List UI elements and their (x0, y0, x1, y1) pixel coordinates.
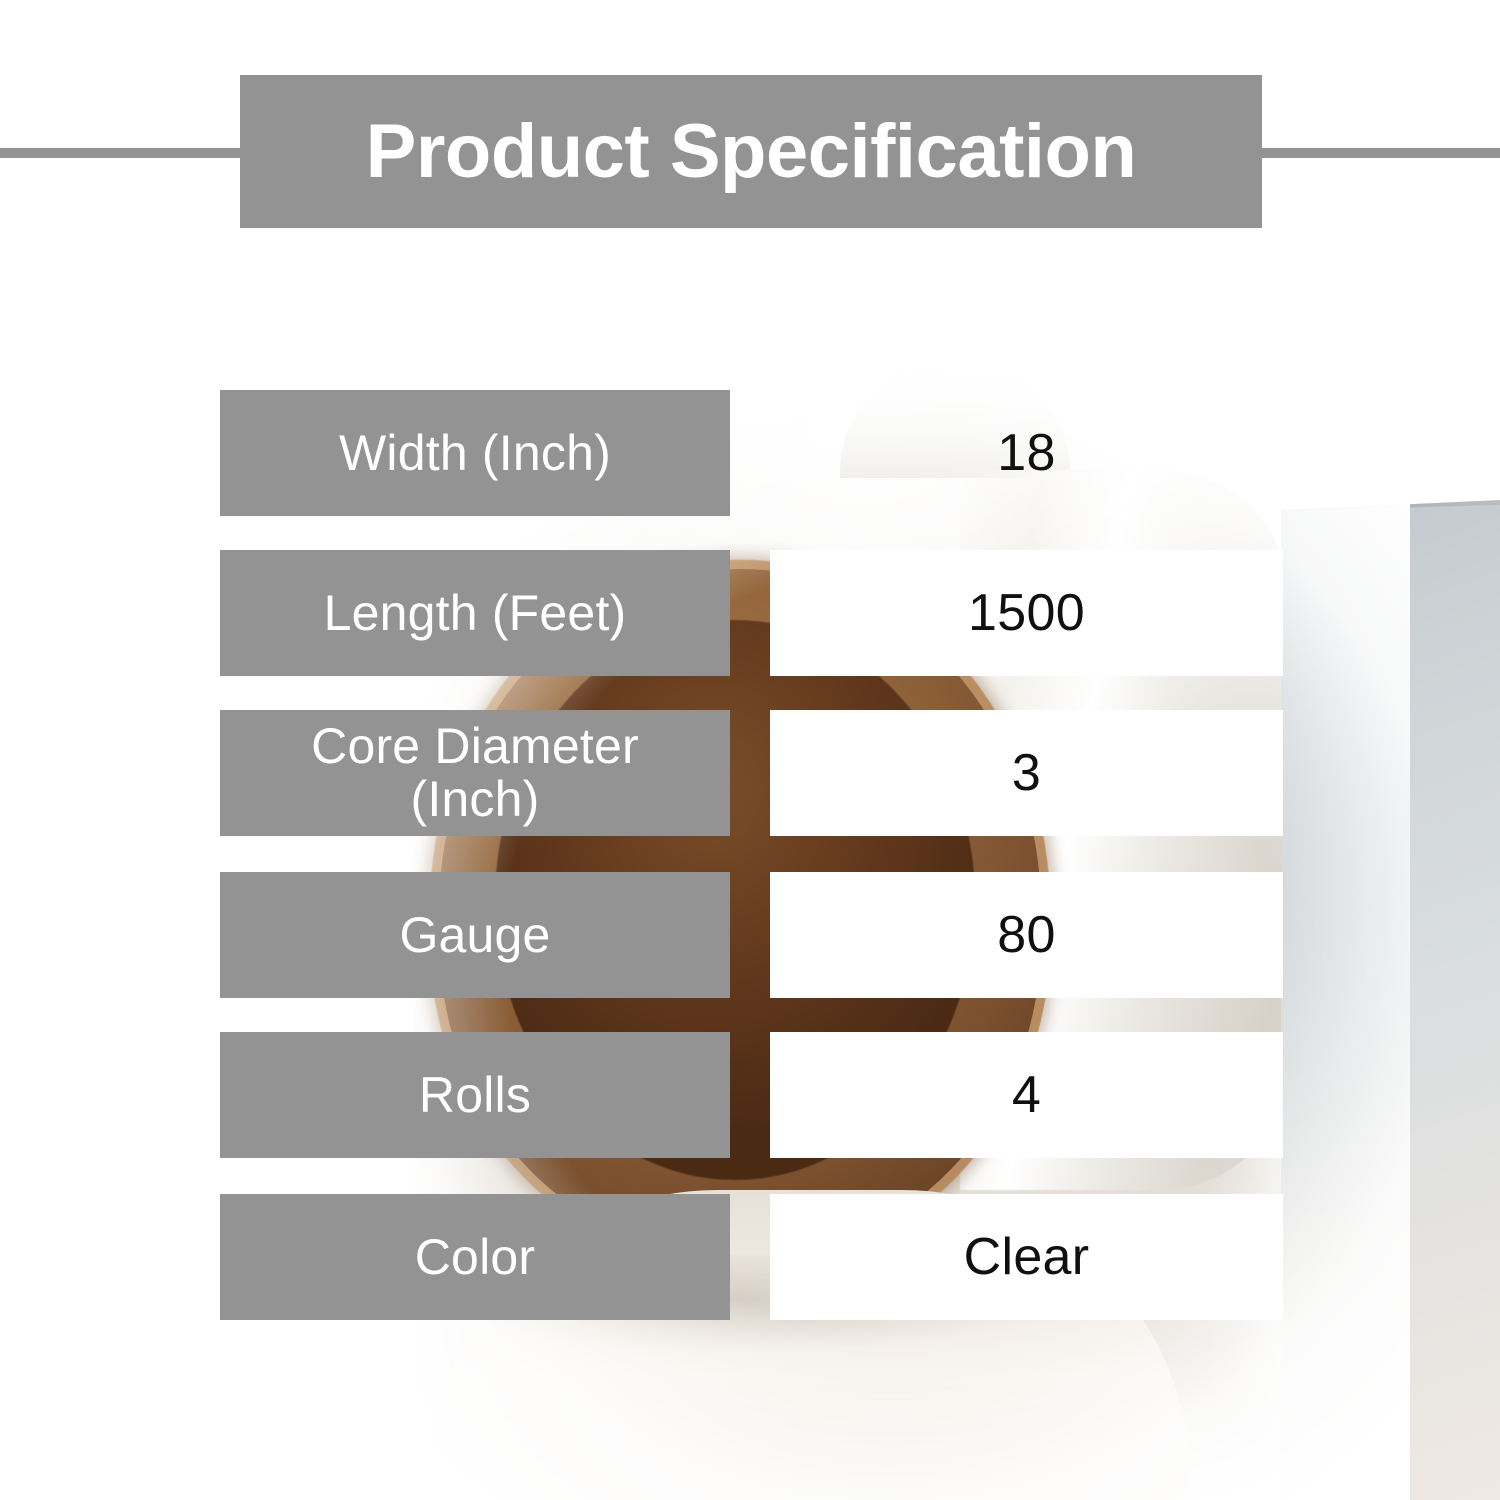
specification-table: Width (Inch) 18 Length (Feet) 1500 Core … (0, 0, 1500, 1500)
spec-label-cell: Core Diameter(Inch) (220, 710, 730, 836)
spec-label-text: Rolls (419, 1069, 531, 1122)
spec-value-text: 18 (997, 426, 1055, 481)
spec-label-cell: Color (220, 1194, 730, 1320)
spec-value-text: Clear (964, 1230, 1090, 1285)
spec-value-text: 4 (1012, 1068, 1041, 1123)
spec-value-text: 80 (997, 908, 1055, 963)
product-specification-graphic: Product Specification Width (Inch) 18 Le… (0, 0, 1500, 1500)
spec-value-text: 1500 (968, 586, 1085, 641)
spec-label-cell: Gauge (220, 872, 730, 998)
spec-label-cell: Width (Inch) (220, 390, 730, 516)
spec-label-cell: Rolls (220, 1032, 730, 1158)
spec-value-cell: Clear (770, 1194, 1283, 1320)
spec-label-cell: Length (Feet) (220, 550, 730, 676)
spec-value-cell: 18 (770, 390, 1283, 516)
spec-label-text: Color (415, 1231, 535, 1284)
spec-label-text: Width (Inch) (339, 427, 611, 480)
spec-value-text: 3 (1012, 746, 1041, 801)
spec-value-cell: 3 (770, 710, 1283, 836)
spec-value-cell: 80 (770, 872, 1283, 998)
spec-label-text: Length (Feet) (324, 587, 627, 640)
spec-value-cell: 1500 (770, 550, 1283, 676)
spec-label-text: Gauge (399, 909, 550, 962)
spec-label-text: Core Diameter(Inch) (311, 720, 639, 826)
spec-value-cell: 4 (770, 1032, 1283, 1158)
